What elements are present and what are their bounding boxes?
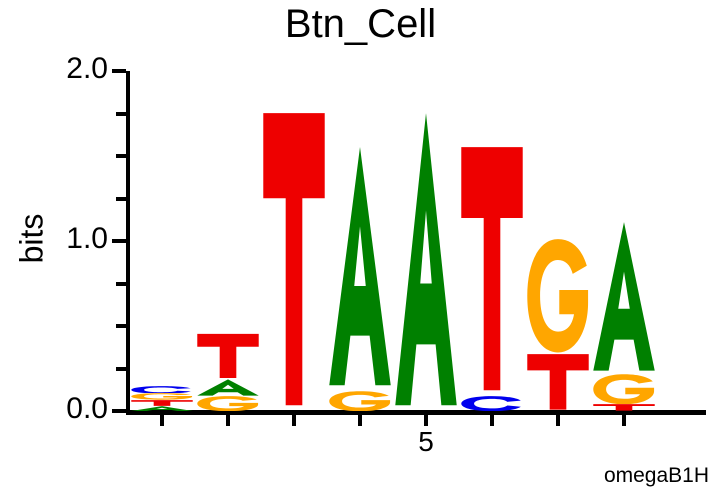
logo-letter-g [130,393,194,400]
logo-stack [262,107,326,411]
logo-letter-t [592,404,656,411]
logo-letter-c [130,386,194,394]
logo-stack [394,107,458,411]
logo-letter-g [592,374,656,405]
fineprint-label: omegaB1H [604,464,709,488]
logo-letter-a [130,406,194,411]
sequence-logo-chart: Btn_Cell bits 0.01.02.0 5 omegaB1H [0,0,721,496]
logo-stack [460,142,524,411]
y-tick-mark [112,69,126,73]
x-tick-mark [292,415,296,426]
x-tick-mark [622,415,626,426]
y-tick-label: 0.0 [30,394,108,424]
logo-letter-t [262,107,326,411]
logo-letter-a [394,107,458,411]
logo-letter-g [196,396,260,411]
x-tick-label: 5 [406,426,446,458]
logo-letter-t [460,142,524,395]
logo-letter-t [130,400,194,406]
y-axis-line [126,71,130,414]
y-tick-label: 2.0 [30,54,108,84]
x-tick-mark [490,415,494,426]
logo-letter-a [196,379,260,396]
logo-letter-t [526,353,590,411]
y-tick-mark [112,409,126,413]
y-tick-mark [116,154,126,158]
y-tick-label: 1.0 [30,224,108,254]
x-tick-mark [556,415,560,426]
logo-letter-g [526,238,590,354]
logo-letter-a [592,219,656,374]
logo-letter-c [460,396,524,411]
logo-letter-g [328,391,392,411]
logo-stack [130,386,194,412]
x-tick-mark [226,415,230,426]
x-tick-mark [358,415,362,426]
x-tick-mark [160,415,164,426]
y-tick-mark [112,239,126,243]
y-tick-mark [116,282,126,286]
logo-stack [526,238,590,411]
logo-stack [196,333,260,411]
x-tick-mark [424,415,428,426]
logo-letter-a [328,142,392,390]
plot-area: bits 0.01.02.0 5 [0,0,721,496]
y-tick-mark [116,197,126,201]
logo-stack [328,142,392,411]
logo-letter-t [196,333,260,379]
logo-stack [592,219,656,411]
y-tick-mark [116,112,126,116]
y-tick-mark [116,367,126,371]
y-tick-mark [116,324,126,328]
